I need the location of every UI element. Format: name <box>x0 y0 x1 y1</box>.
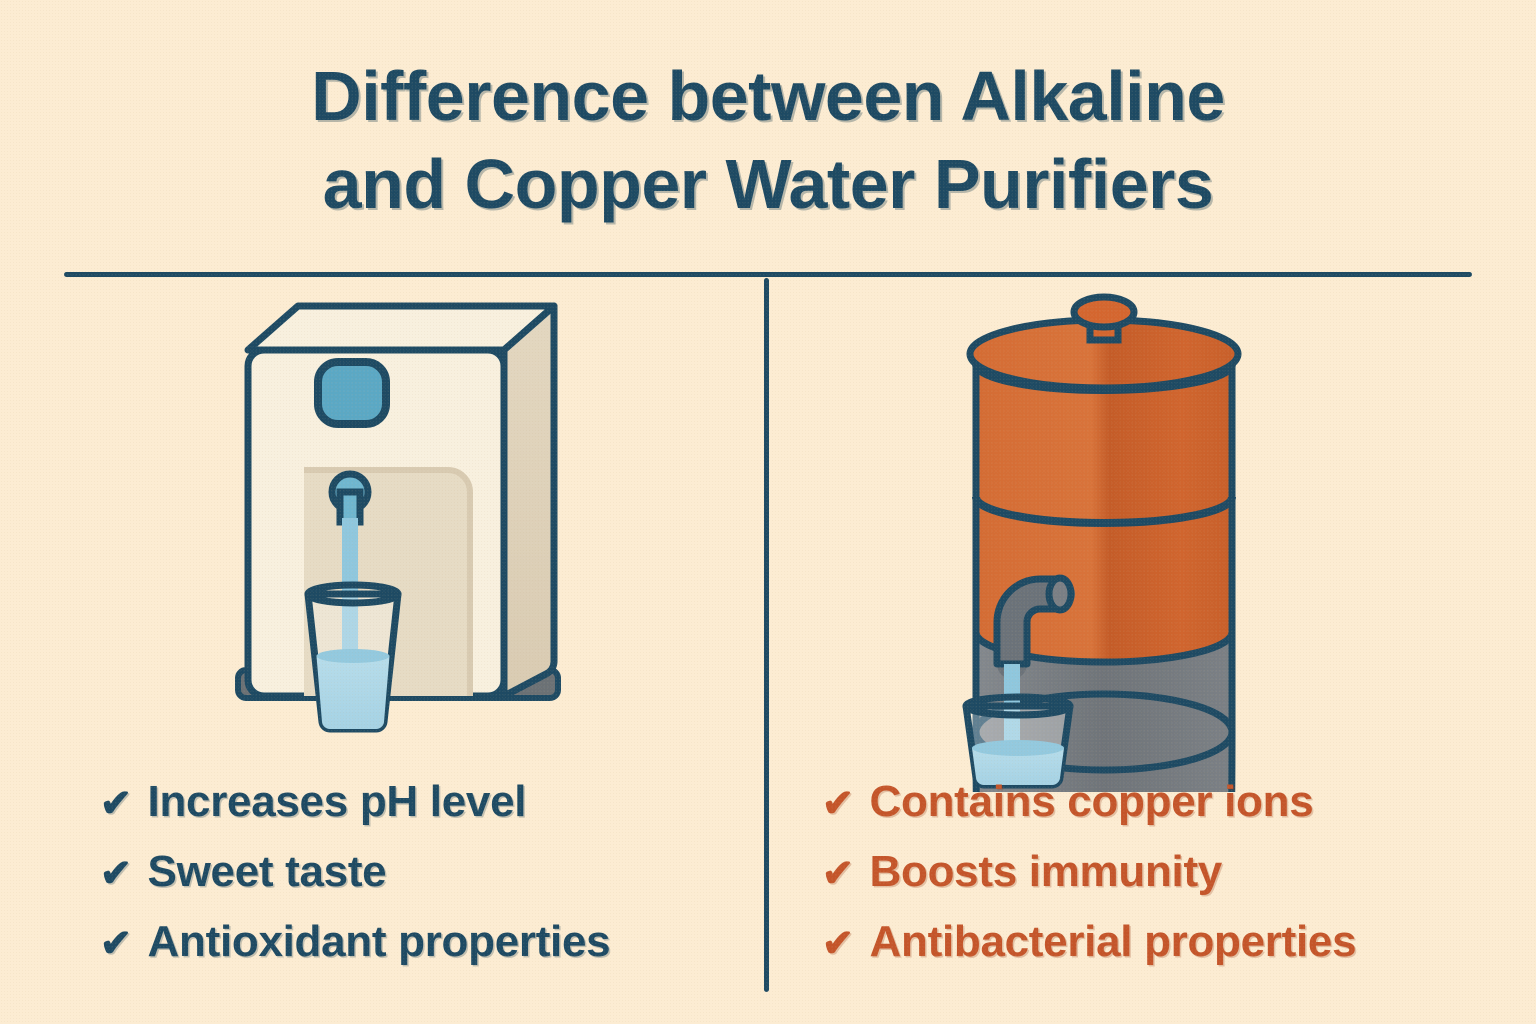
page-title: Difference between Alkaline and Copper W… <box>0 52 1536 228</box>
check-icon: ✔ <box>822 840 854 908</box>
list-item: ✔ Sweet taste <box>100 838 610 908</box>
water-surface <box>317 649 390 663</box>
list-item-label: Increases pH level <box>148 768 527 836</box>
alkaline-benefits-list: ✔ Increases pH level ✔ Sweet taste ✔ Ant… <box>100 768 610 978</box>
check-icon: ✔ <box>822 910 854 978</box>
list-item: ✔ Boosts immunity <box>822 838 1356 908</box>
glass-water <box>317 656 390 729</box>
water-spout[interactable] <box>332 474 368 522</box>
vertical-divider <box>764 278 769 992</box>
copper-purifier-illustration <box>956 292 1266 792</box>
check-icon: ✔ <box>100 910 132 978</box>
copper-benefits-list: ✔ Contains copper ions ✔ Boosts immunity… <box>822 768 1356 978</box>
list-item: ✔ Antioxidant properties <box>100 908 610 978</box>
horizontal-divider <box>64 272 1472 277</box>
display-panel-icon[interactable] <box>318 362 386 424</box>
check-icon: ✔ <box>100 840 132 908</box>
water-surface <box>972 740 1064 756</box>
list-item-label: Boosts immunity <box>870 838 1222 906</box>
title-line-2: and Copper Water Purifiers <box>0 140 1536 228</box>
list-item: ✔ Antibacterial properties <box>822 908 1356 978</box>
list-item-label: Sweet taste <box>148 838 387 906</box>
infographic-canvas: Difference between Alkaline and Copper W… <box>0 0 1536 1024</box>
check-icon: ✔ <box>100 770 132 838</box>
list-item: ✔ Contains copper ions <box>822 768 1356 838</box>
list-item-label: Antibacterial properties <box>870 908 1357 976</box>
purifier-side-face <box>504 306 554 696</box>
alkaline-purifier-illustration <box>232 292 572 752</box>
drinking-glass <box>308 585 398 729</box>
check-icon: ✔ <box>822 770 854 838</box>
list-item-label: Antioxidant properties <box>148 908 611 976</box>
title-line-1: Difference between Alkaline <box>0 52 1536 140</box>
list-item-label: Contains copper ions <box>870 768 1314 836</box>
list-item: ✔ Increases pH level <box>100 768 610 838</box>
